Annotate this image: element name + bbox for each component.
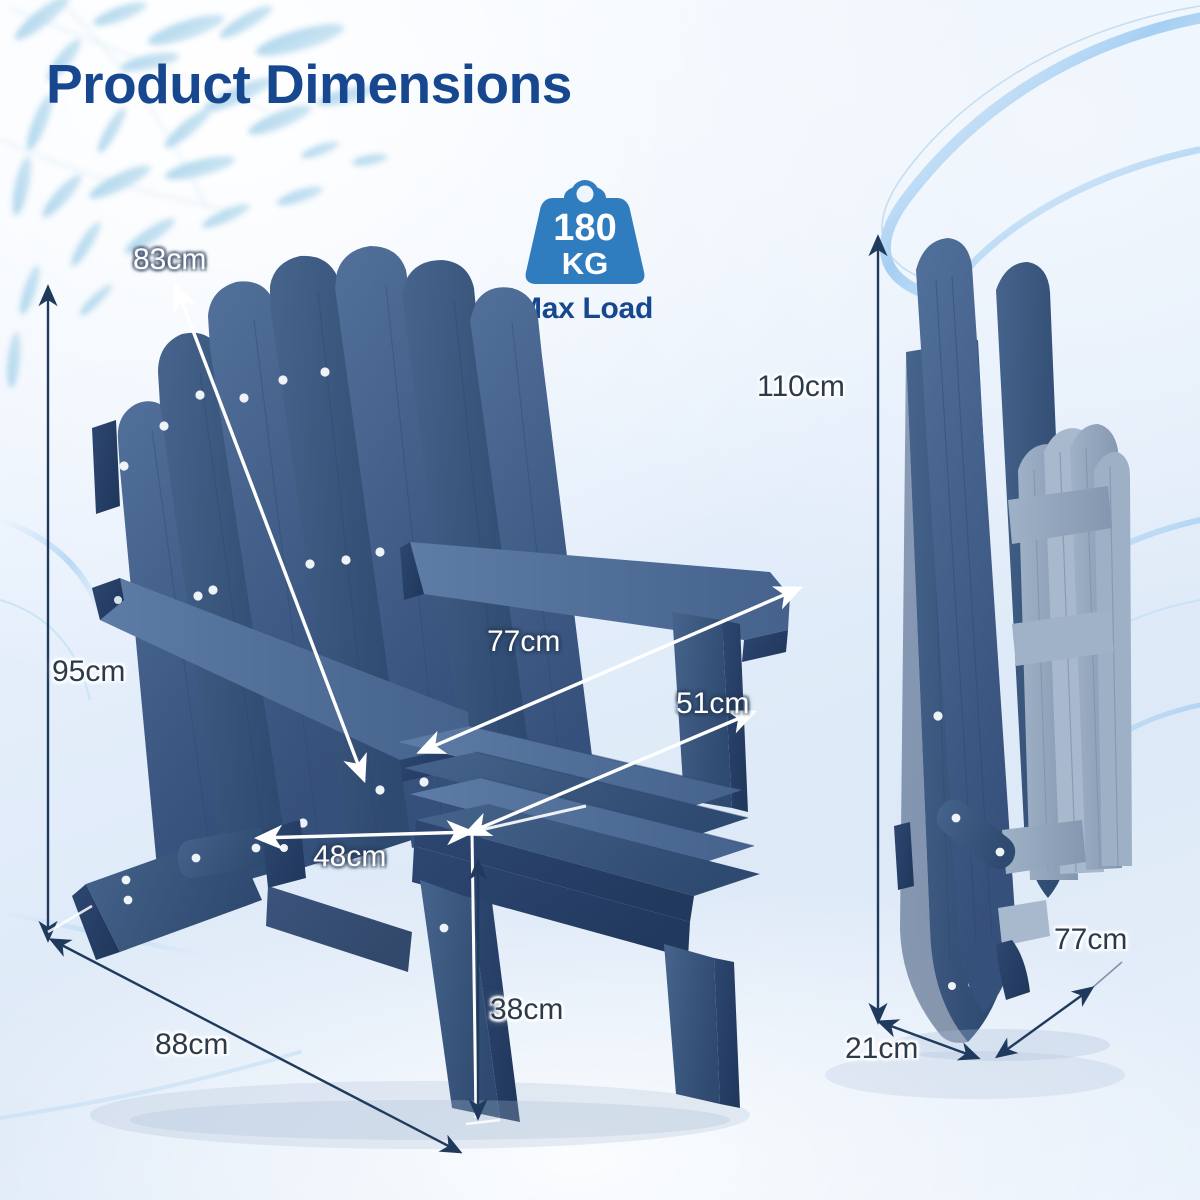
dimension-label-seat-width: 48cm [313, 840, 386, 874]
dimension-label-overall-depth: 77cm [487, 625, 560, 659]
dimline-seat-width [258, 832, 472, 838]
dimline-back-width [176, 286, 364, 780]
page-title: Product Dimensions [46, 52, 572, 116]
dimension-label-seat-depth: 51cm [676, 687, 749, 721]
dimension-label-seat-height: 38cm [490, 993, 563, 1027]
badge-weight-value: 180 [553, 207, 616, 249]
dimension-label-overall-height: 95cm [52, 655, 125, 689]
product-dimensions-infographic: Product Dimensions 180 KG Max Load [0, 0, 1200, 1200]
dimline-overall-depth [420, 588, 800, 752]
max-load-badge: 180 KG Max Load [470, 168, 700, 326]
dimension-label-folded-depth: 21cm [845, 1032, 918, 1066]
dimline-folded-width [998, 988, 1092, 1056]
dimline-seat-depth [466, 712, 754, 834]
dimension-label-folded-height: 110cm [757, 370, 845, 404]
max-load-caption: Max Load [470, 292, 700, 326]
badge-weight-unit: KG [562, 246, 609, 281]
dimension-label-base-depth: 88cm [155, 1028, 228, 1062]
dimension-label-folded-width: 77cm [1054, 923, 1127, 957]
dimline-base-depth [52, 940, 460, 1152]
weight-plate-icon: 180 KG [511, 168, 659, 286]
dimension-label-back-width: 83cm [133, 243, 206, 277]
